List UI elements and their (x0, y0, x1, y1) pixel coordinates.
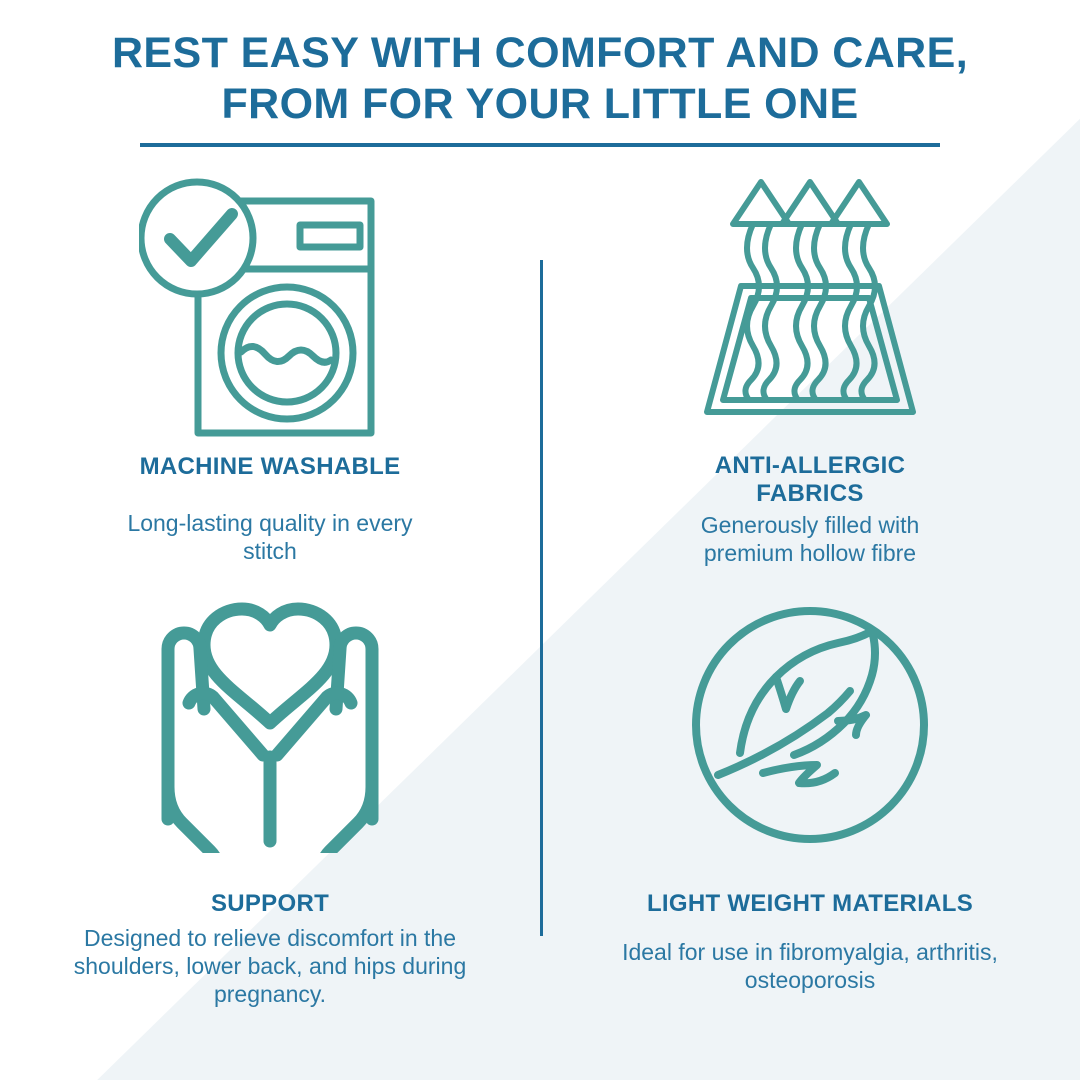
feature-card-machine-washable: MACHINE WASHABLE Long-lasting quality in… (0, 160, 540, 580)
feature-description-light-weight-materials: Ideal for use in fibromyalgia, arthritis… (610, 938, 1010, 994)
title-underline-rule (140, 143, 940, 147)
feather-in-circle-icon (688, 580, 932, 870)
feature-card-support: SUPPORT Designed to relieve discomfort i… (0, 580, 540, 1030)
feature-description-anti-allergic-fabrics: Generously filled with premium hollow fi… (680, 511, 940, 567)
page-title-line-2: FROM FOR YOUR LITTLE ONE (0, 79, 1080, 130)
breathable-fabric-arrows-icon (685, 160, 935, 440)
feature-title-machine-washable: MACHINE WASHABLE (140, 453, 401, 481)
feature-card-light-weight-materials: LIGHT WEIGHT MATERIALS Ideal for use in … (540, 580, 1080, 1030)
infographic-canvas: REST EASY WITH COMFORT AND CARE, FROM FO… (0, 0, 1080, 1080)
feature-title-light-weight-materials: LIGHT WEIGHT MATERIALS (647, 890, 973, 918)
feature-card-anti-allergic-fabrics: ANTI-ALLERGIC FABRICS Generously filled … (540, 160, 1080, 580)
hands-holding-heart-icon (142, 580, 398, 870)
header: REST EASY WITH COMFORT AND CARE, FROM FO… (0, 28, 1080, 147)
washing-machine-check-icon (139, 160, 401, 445)
page-title-line-1: REST EASY WITH COMFORT AND CARE, (0, 28, 1080, 79)
feature-title-anti-allergic-fabrics: ANTI-ALLERGIC FABRICS (660, 452, 960, 507)
feature-description-support: Designed to relieve discomfort in the sh… (70, 924, 470, 1008)
feature-title-support: SUPPORT (211, 890, 329, 918)
column-divider (540, 260, 543, 936)
feature-description-machine-washable: Long-lasting quality in every stitch (105, 509, 435, 565)
page-title: REST EASY WITH COMFORT AND CARE, FROM FO… (0, 28, 1080, 129)
